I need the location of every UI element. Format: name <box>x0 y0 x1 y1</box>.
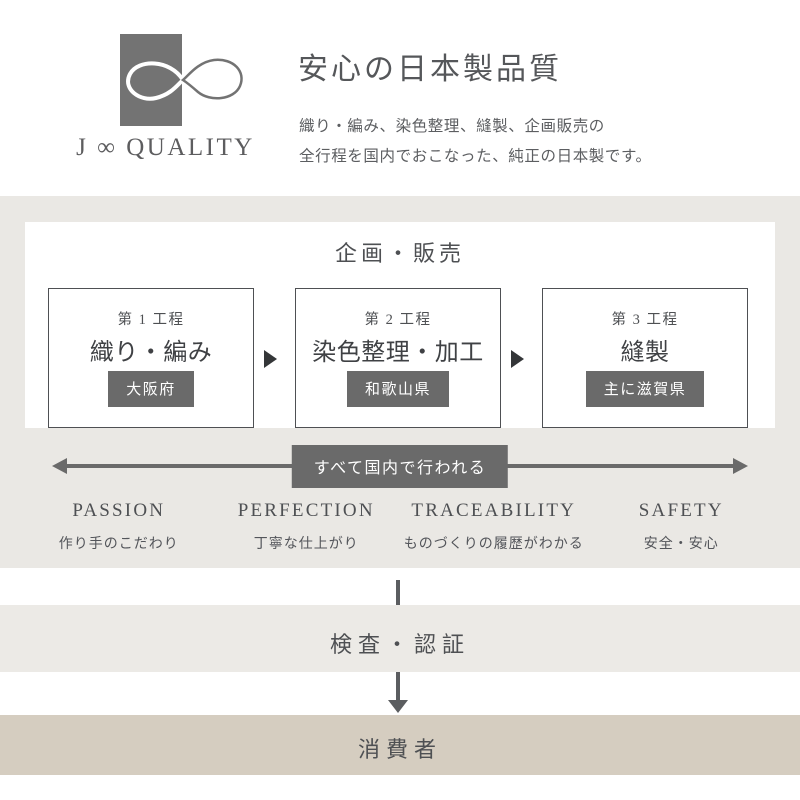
values-row: PASSION 作り手のこだわり PERFECTION 丁寧な仕上がり TRAC… <box>25 500 775 553</box>
brand-logo: J ∞ QUALITY <box>58 30 273 175</box>
value-ja-label: 作り手のこだわり <box>25 533 213 553</box>
value-en-label: TRACEABILITY <box>400 500 588 522</box>
infinity-logo-icon <box>58 30 273 135</box>
process-region-badge: 和歌山県 <box>347 371 449 407</box>
header: J ∞ QUALITY 安心の日本製品質 織り・編み、染色整理、縫製、企画販売の… <box>0 0 800 196</box>
process-region-badge: 大阪府 <box>108 371 194 407</box>
value-item-perfection: PERFECTION 丁寧な仕上がり <box>213 500 401 553</box>
value-ja-label: 安全・安心 <box>588 533 776 553</box>
arrow-down-icon-1 <box>396 580 400 605</box>
arrow-right-icon <box>733 458 748 474</box>
inspection-label: 検査・認証 <box>0 627 800 659</box>
process-step-label: 第 3 工程 <box>543 308 747 329</box>
process-title: 染色整理・加工 <box>296 332 500 367</box>
process-box-2[interactable]: 第 2 工程 染色整理・加工 和歌山県 <box>295 288 501 428</box>
value-en-label: SAFETY <box>588 500 776 522</box>
process-region-badge: 主に滋賀県 <box>586 371 705 407</box>
consumer-label: 消費者 <box>0 732 800 764</box>
page-title: 安心の日本製品質 <box>298 44 562 88</box>
process-box-1[interactable]: 第 1 工程 織り・編み 大阪府 <box>48 288 254 428</box>
value-item-traceability: TRACEABILITY ものづくりの履歴がわかる <box>400 500 588 553</box>
value-ja-label: ものづくりの履歴がわかる <box>400 533 588 553</box>
process-title: 織り・編み <box>49 332 253 367</box>
triangle-right-icon-1 <box>264 350 277 368</box>
triangle-right-icon-2 <box>511 350 524 368</box>
domestic-arrow-bar: すべて国内で行われる <box>52 458 748 474</box>
process-step-label: 第 1 工程 <box>49 308 253 329</box>
domestic-label: すべて国内で行われる <box>292 445 508 488</box>
value-en-label: PASSION <box>25 500 213 522</box>
process-region-wrap: 和歌山県 <box>296 371 500 407</box>
arrow-down-icon-2 <box>396 672 400 702</box>
subtitle-line-2: 全行程を国内でおこなった、純正の日本製です。 <box>299 142 652 172</box>
page-subtitle: 織り・編み、染色整理、縫製、企画販売の 全行程を国内でおこなった、純正の日本製で… <box>299 112 652 172</box>
infographic-page: J ∞ QUALITY 安心の日本製品質 織り・編み、染色整理、縫製、企画販売の… <box>0 0 800 800</box>
process-step-label: 第 2 工程 <box>296 308 500 329</box>
value-item-safety: SAFETY 安全・安心 <box>588 500 776 553</box>
arrow-down-head-icon <box>388 700 408 713</box>
process-region-wrap: 大阪府 <box>49 371 253 407</box>
value-ja-label: 丁寧な仕上がり <box>213 533 401 553</box>
process-title: 縫製 <box>543 332 747 367</box>
logo-wordmark: J ∞ QUALITY <box>58 134 273 162</box>
planning-sales-label: 企画・販売 <box>0 236 800 268</box>
arrow-left-icon <box>52 458 67 474</box>
value-item-passion: PASSION 作り手のこだわり <box>25 500 213 553</box>
process-region-wrap: 主に滋賀県 <box>543 371 747 407</box>
value-en-label: PERFECTION <box>213 500 401 522</box>
infinity-symbol-icon <box>118 52 248 108</box>
process-box-3[interactable]: 第 3 工程 縫製 主に滋賀県 <box>542 288 748 428</box>
subtitle-line-1: 織り・編み、染色整理、縫製、企画販売の <box>299 112 652 142</box>
